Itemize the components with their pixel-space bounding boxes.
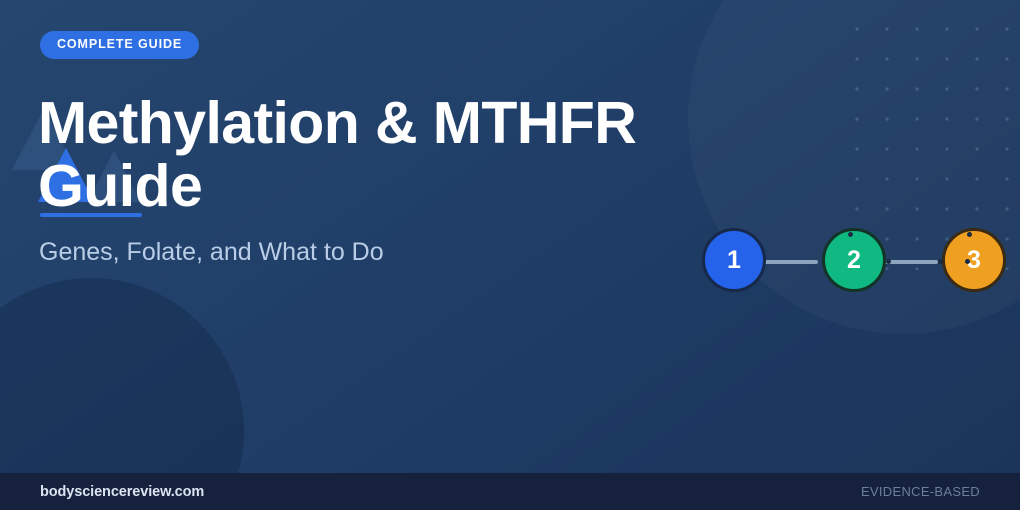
page-subtitle: Genes, Folate, and What to Do <box>39 237 384 267</box>
banner-content: COMPLETE GUIDE Methylation & MTHFR Guide… <box>0 0 1020 473</box>
step-circle-1: 1 <box>702 228 766 292</box>
grid-dot-overlay <box>965 259 970 264</box>
step-indicator: 1 2 3 <box>690 218 1010 310</box>
footer-evidence-label: EVIDENCE-BASED <box>861 484 980 499</box>
grid-dot-overlay <box>886 259 891 264</box>
title-underline <box>40 213 142 217</box>
guide-banner: COMPLETE GUIDE Methylation & MTHFR Guide… <box>0 0 1020 510</box>
grid-dot-overlay <box>848 232 853 237</box>
status-badge: COMPLETE GUIDE <box>40 31 199 59</box>
grid-dot-overlay <box>967 232 972 237</box>
page-title: Methylation & MTHFR Guide <box>38 92 678 217</box>
step-circle-2: 2 <box>822 228 886 292</box>
grid-dot-overlay <box>938 259 943 264</box>
footer-bar: bodysciencereview.com EVIDENCE-BASED <box>0 473 1020 510</box>
footer-site-label: bodysciencereview.com <box>40 484 204 500</box>
step-circle-3: 3 <box>942 228 1006 292</box>
